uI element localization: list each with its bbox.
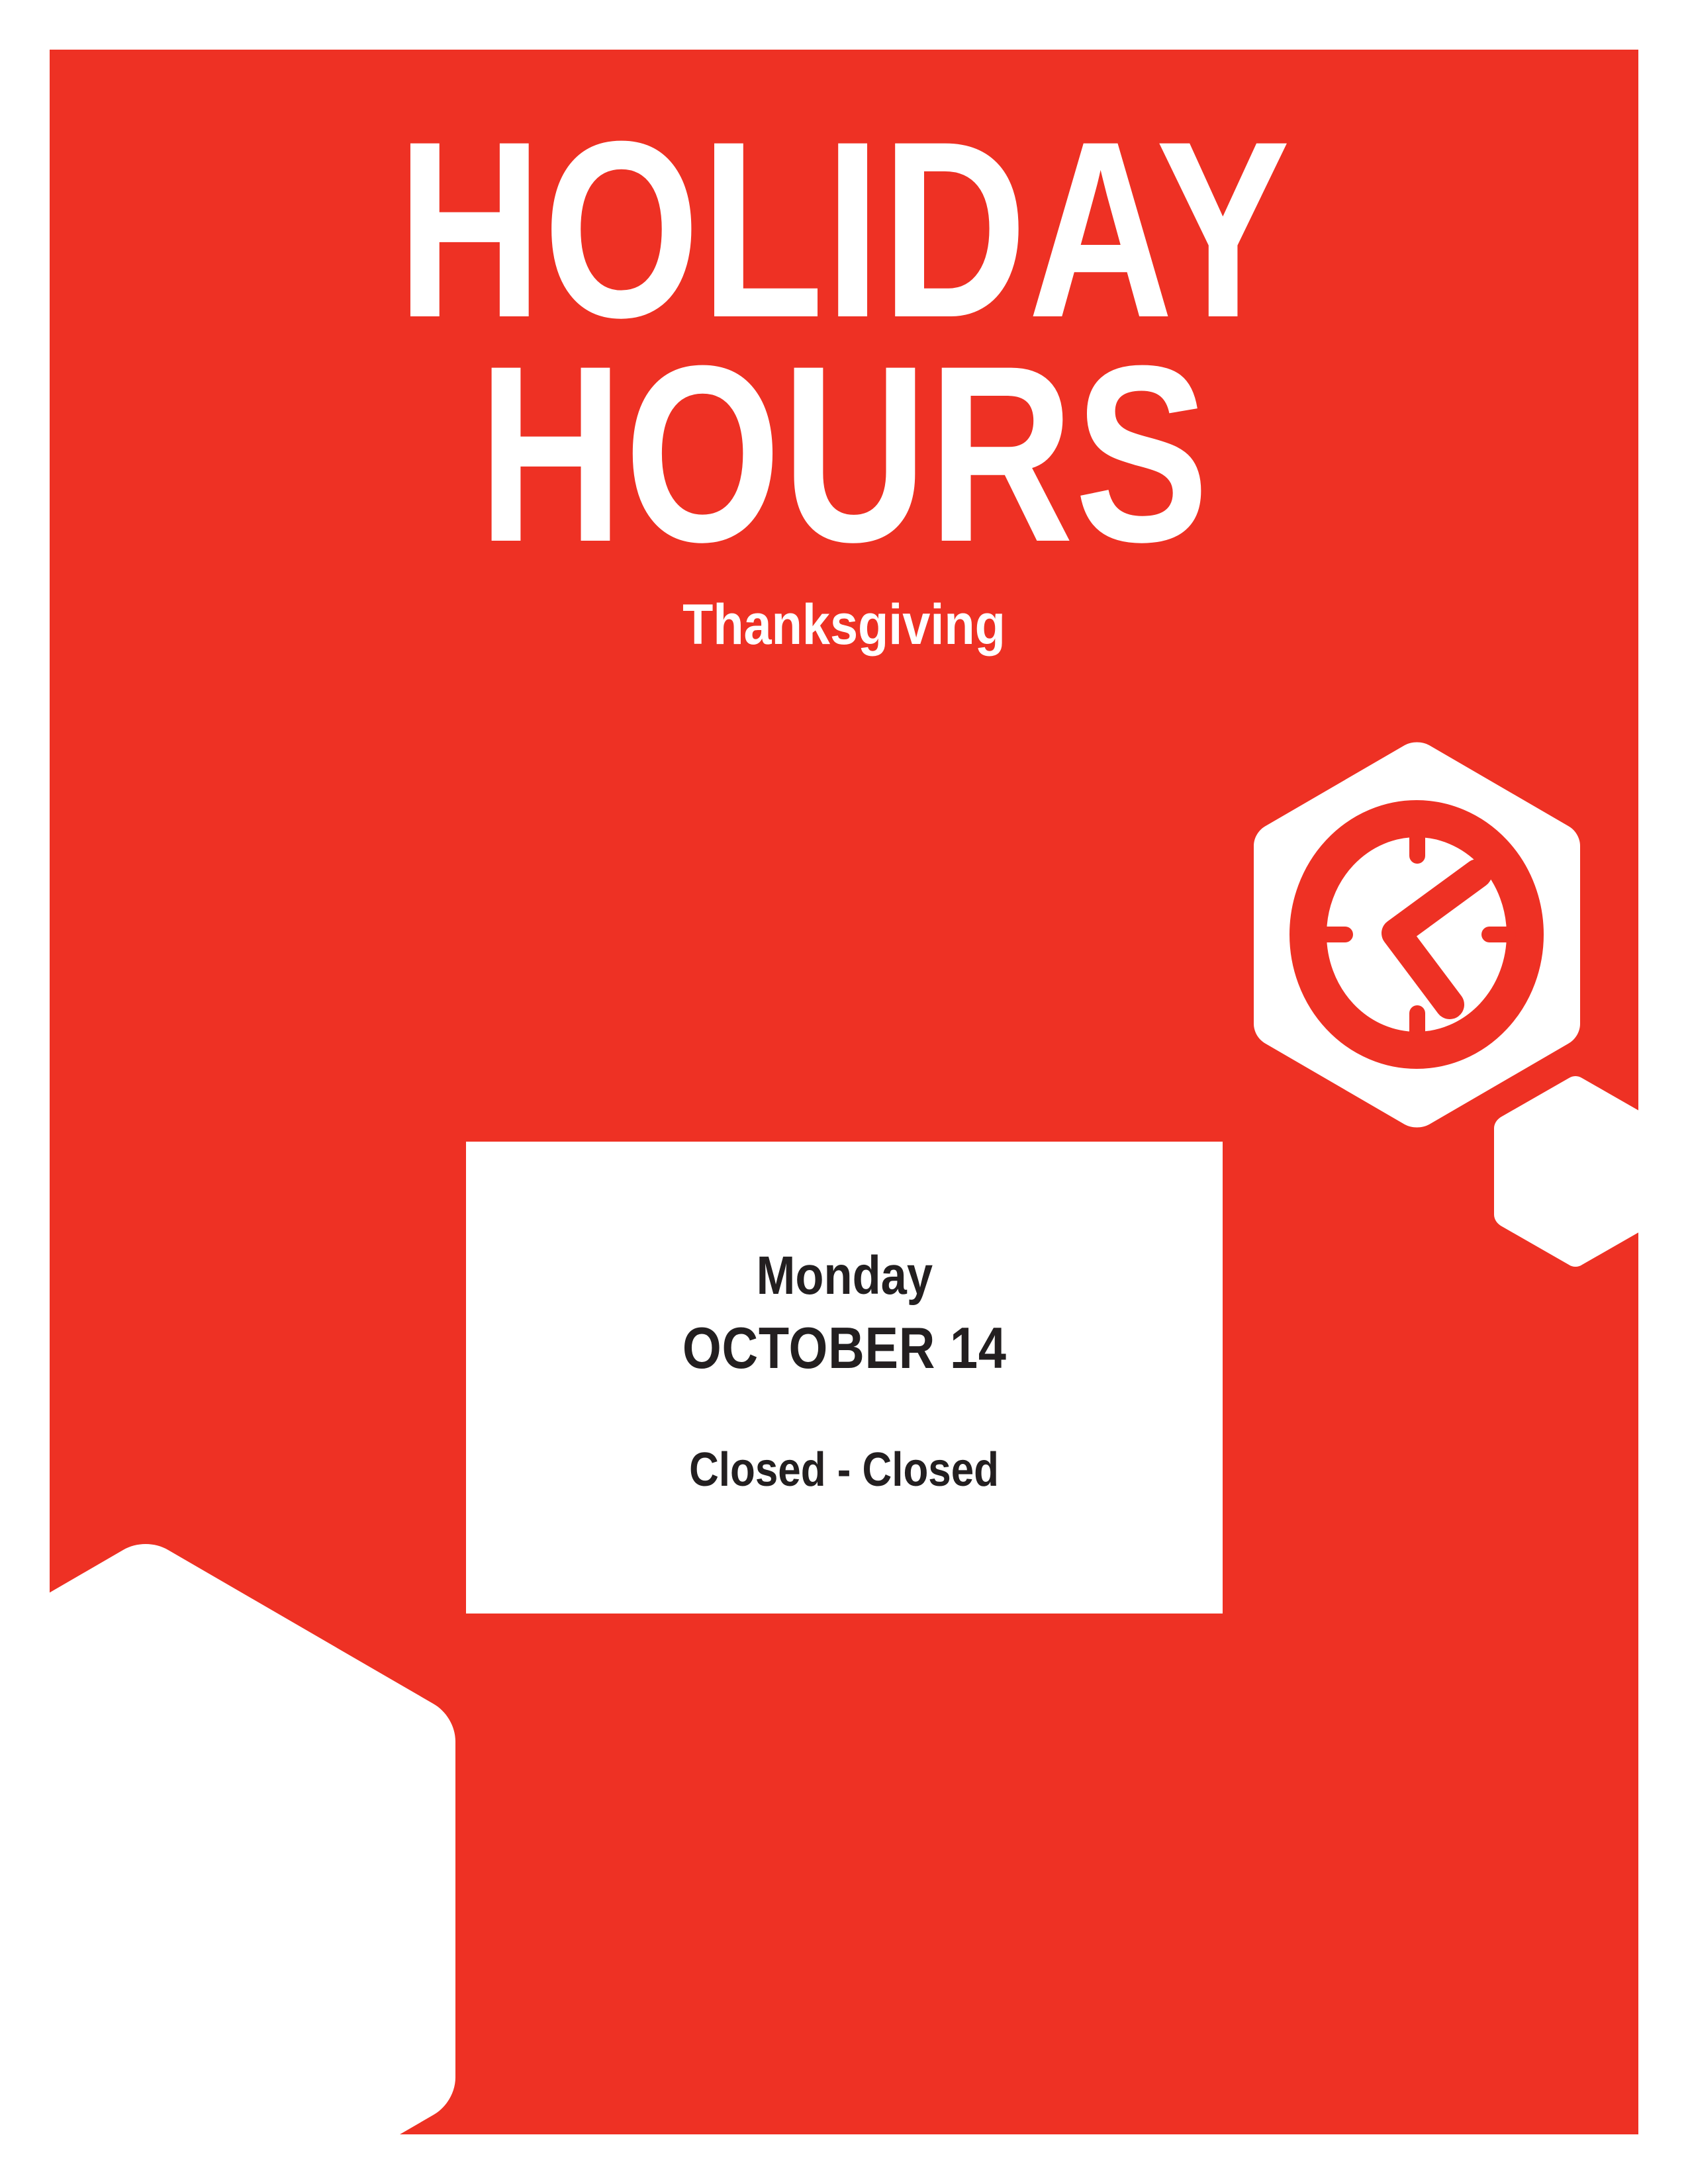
hexagon-corner [0,1542,463,2184]
card-date-label: OCTOBER 14 [682,1319,1007,1377]
hexagon-corner-shape [0,1544,455,2184]
holiday-hours-poster: HOLIDAY HOURS Thanksgiving Monday OCTOBE… [0,0,1688,2184]
clock-icon [1308,819,1525,1050]
hours-info-card: Monday OCTOBER 14 Closed - Closed [466,1142,1223,1614]
clock-tick-6 [1409,1005,1425,1040]
card-weekday-label: Monday [756,1249,932,1303]
clock-tick-12 [1409,829,1425,864]
card-hours-label: Closed - Closed [690,1446,1000,1494]
hexagon-badge [1250,741,1584,1128]
clock-tick-3 [1481,927,1516,942]
hexagon-accent-shape [1494,1076,1657,1267]
hexagon-accent [1493,1075,1658,1267]
clock-tick-9 [1319,927,1353,942]
